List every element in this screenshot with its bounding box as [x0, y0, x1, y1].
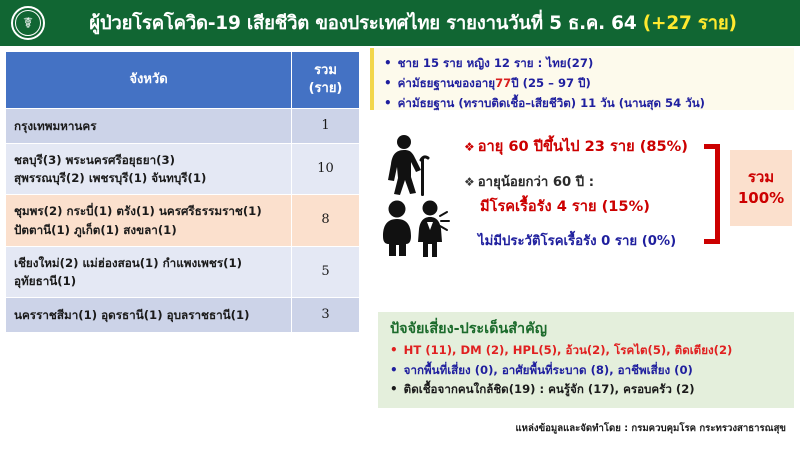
total-label: รวม	[748, 170, 774, 185]
bullet-dot-icon: •	[384, 94, 392, 113]
risk-bullet-exposure-area: • จากพื้นที่เสี่ยง (0), อาศัยพื้นที่ระบา…	[390, 361, 784, 380]
table-row: เชียงใหม่(2) แม่ฮ่องสอน(1) กำแพงเพชร(1)อ…	[6, 246, 360, 297]
median-age-suffix: ปี (25 – 97 ปี)	[511, 74, 591, 94]
diamond-bullet-icon: ❖	[464, 140, 475, 154]
page-title-main: ผู้ป่วยโรคโควิด-19 เสียชีวิต ของประเทศไท…	[89, 13, 643, 34]
cell-province: ชลบุรี(3) พระนครศรีอยุธยา(3)สุพรรณบุรี(2…	[6, 144, 292, 195]
page-header: ☤ ผู้ป่วยโรคโควิด-19 เสียชีวิต ของประเทศ…	[0, 0, 800, 46]
column-header-total-line2: (ราย)	[296, 80, 355, 98]
info-bullet-gender: • ชาย 15 ราย หญิง 12 ราย : ไทย(27)	[384, 54, 786, 74]
two-adults-icon	[380, 200, 450, 258]
page-title-highlight: (+27 ราย)	[643, 13, 737, 34]
cell-province: ชุมพร(2) กระบี่(1) ตรัง(1) นครศรีธรรมราช…	[6, 195, 292, 246]
age-line-no-chronic: ไม่มีประวัติโรคเรื้อรัง 0 ราย (0%)	[478, 233, 714, 250]
grouping-bracket-icon	[704, 144, 720, 244]
age-line-over60: ❖อายุ 60 ปีขึ้นไป 23 ราย (85%)	[464, 138, 714, 157]
cell-total: 5	[292, 246, 360, 297]
logo-container: ☤	[0, 6, 56, 40]
median-age-prefix: ค่ามัธยฐานของอายุ	[398, 74, 495, 94]
demographics-info-box: • ชาย 15 ราย หญิง 12 ราย : ไทย(27) • ค่า…	[370, 48, 794, 110]
bullet-dot-icon: •	[384, 54, 392, 73]
age-icons-column	[380, 134, 460, 258]
cell-province: กรุงเทพมหานคร	[6, 109, 292, 144]
age-breakdown-section: ❖อายุ 60 ปีขึ้นไป 23 ราย (85%) ❖อายุน้อย…	[374, 132, 794, 304]
total-percentage-badge: รวม 100%	[730, 150, 792, 226]
column-header-total-line1: รวม	[296, 62, 355, 80]
risk-bullet-exposure-area-text: จากพื้นที่เสี่ยง (0), อาศัยพื้นที่ระบาด …	[404, 361, 693, 380]
cell-total: 8	[292, 195, 360, 246]
ministry-health-caduceus-icon: ☤	[11, 6, 45, 40]
diamond-bullet-icon: ❖	[464, 175, 475, 189]
table-row: ชลบุรี(3) พระนครศรีอยุธยา(3)สุพรรณบุรี(2…	[6, 144, 360, 195]
table-row: นครราชสีมา(1) อุดรธานี(1) อุบลราชธานี(1)…	[6, 297, 360, 332]
cell-total: 1	[292, 109, 360, 144]
info-bullet-median-age: • ค่ามัธยฐานของอายุ 77 ปี (25 – 97 ปี)	[384, 74, 786, 94]
age-line-chronic: มีโรคเรื้อรัง 4 ราย (15%)	[480, 198, 714, 217]
elderly-person-with-cane-icon	[380, 134, 436, 196]
bullet-dot-icon: •	[390, 341, 398, 360]
table-header-row: จังหวัด รวม (ราย)	[6, 52, 360, 109]
page-title: ผู้ป่วยโรคโควิด-19 เสียชีวิต ของประเทศไท…	[56, 9, 800, 38]
source-attribution: แหล่งข้อมูลและจัดทำโดย : กรมควบคุมโรค กร…	[516, 421, 787, 436]
age-line-under60-label-text: อายุน้อยกว่า 60 ปี :	[478, 175, 594, 190]
age-line-under60-label: ❖อายุน้อยกว่า 60 ปี :	[464, 174, 714, 191]
logo-inner-ring: ☤	[15, 10, 41, 36]
risk-bullet-close-contact: • ติดเชื้อจากคนใกล้ชิด(19) : คนรู้จัก (1…	[390, 380, 784, 399]
age-line-over60-text: อายุ 60 ปีขึ้นไป 23 ราย (85%)	[478, 138, 688, 155]
province-death-table: จังหวัด รวม (ราย) กรุงเทพมหานคร 1 ชลบุรี…	[5, 51, 360, 333]
table-row: ชุมพร(2) กระบี่(1) ตรัง(1) นครศรีธรรมราช…	[6, 195, 360, 246]
risk-bullet-comorbidities: • HT (11), DM (2), HPL(5), อ้วน(2), โรคไ…	[390, 341, 784, 360]
table-row: กรุงเทพมหานคร 1	[6, 109, 360, 144]
cell-province: เชียงใหม่(2) แม่ฮ่องสอน(1) กำแพงเพชร(1)อ…	[6, 246, 292, 297]
cell-total: 10	[292, 144, 360, 195]
info-bullet-gender-text: ชาย 15 ราย หญิง 12 ราย : ไทย(27)	[398, 54, 594, 74]
cell-province: นครราชสีมา(1) อุดรธานี(1) อุบลราชธานี(1)	[6, 297, 292, 332]
risk-bullet-comorbidities-text: HT (11), DM (2), HPL(5), อ้วน(2), โรคไต(…	[404, 341, 733, 360]
risk-bullet-close-contact-text: ติดเชื้อจากคนใกล้ชิด(19) : คนรู้จัก (17)…	[404, 380, 695, 399]
total-value: 100%	[738, 191, 784, 206]
risk-factors-box: ปัจจัยเสี่ยง-ประเด็นสำคัญ • HT (11), DM …	[378, 312, 794, 408]
bullet-dot-icon: •	[384, 74, 392, 93]
bullet-dot-icon: •	[390, 380, 398, 399]
bullet-dot-icon: •	[390, 361, 398, 380]
cell-total: 3	[292, 297, 360, 332]
info-bullet-median-days-text: ค่ามัธยฐาน (ทราบติดเชื้อ–เสียชีวิต) 11 ว…	[398, 94, 705, 114]
column-header-province: จังหวัด	[6, 52, 292, 109]
info-bullet-median-days: • ค่ามัธยฐาน (ทราบติดเชื้อ–เสียชีวิต) 11…	[384, 94, 786, 114]
median-age-value: 77	[495, 74, 511, 94]
risk-factors-title: ปัจจัยเสี่ยง-ประเด็นสำคัญ	[390, 319, 784, 339]
age-text-lines: ❖อายุ 60 ปีขึ้นไป 23 ราย (85%) ❖อายุน้อย…	[464, 138, 714, 250]
column-header-total: รวม (ราย)	[292, 52, 360, 109]
